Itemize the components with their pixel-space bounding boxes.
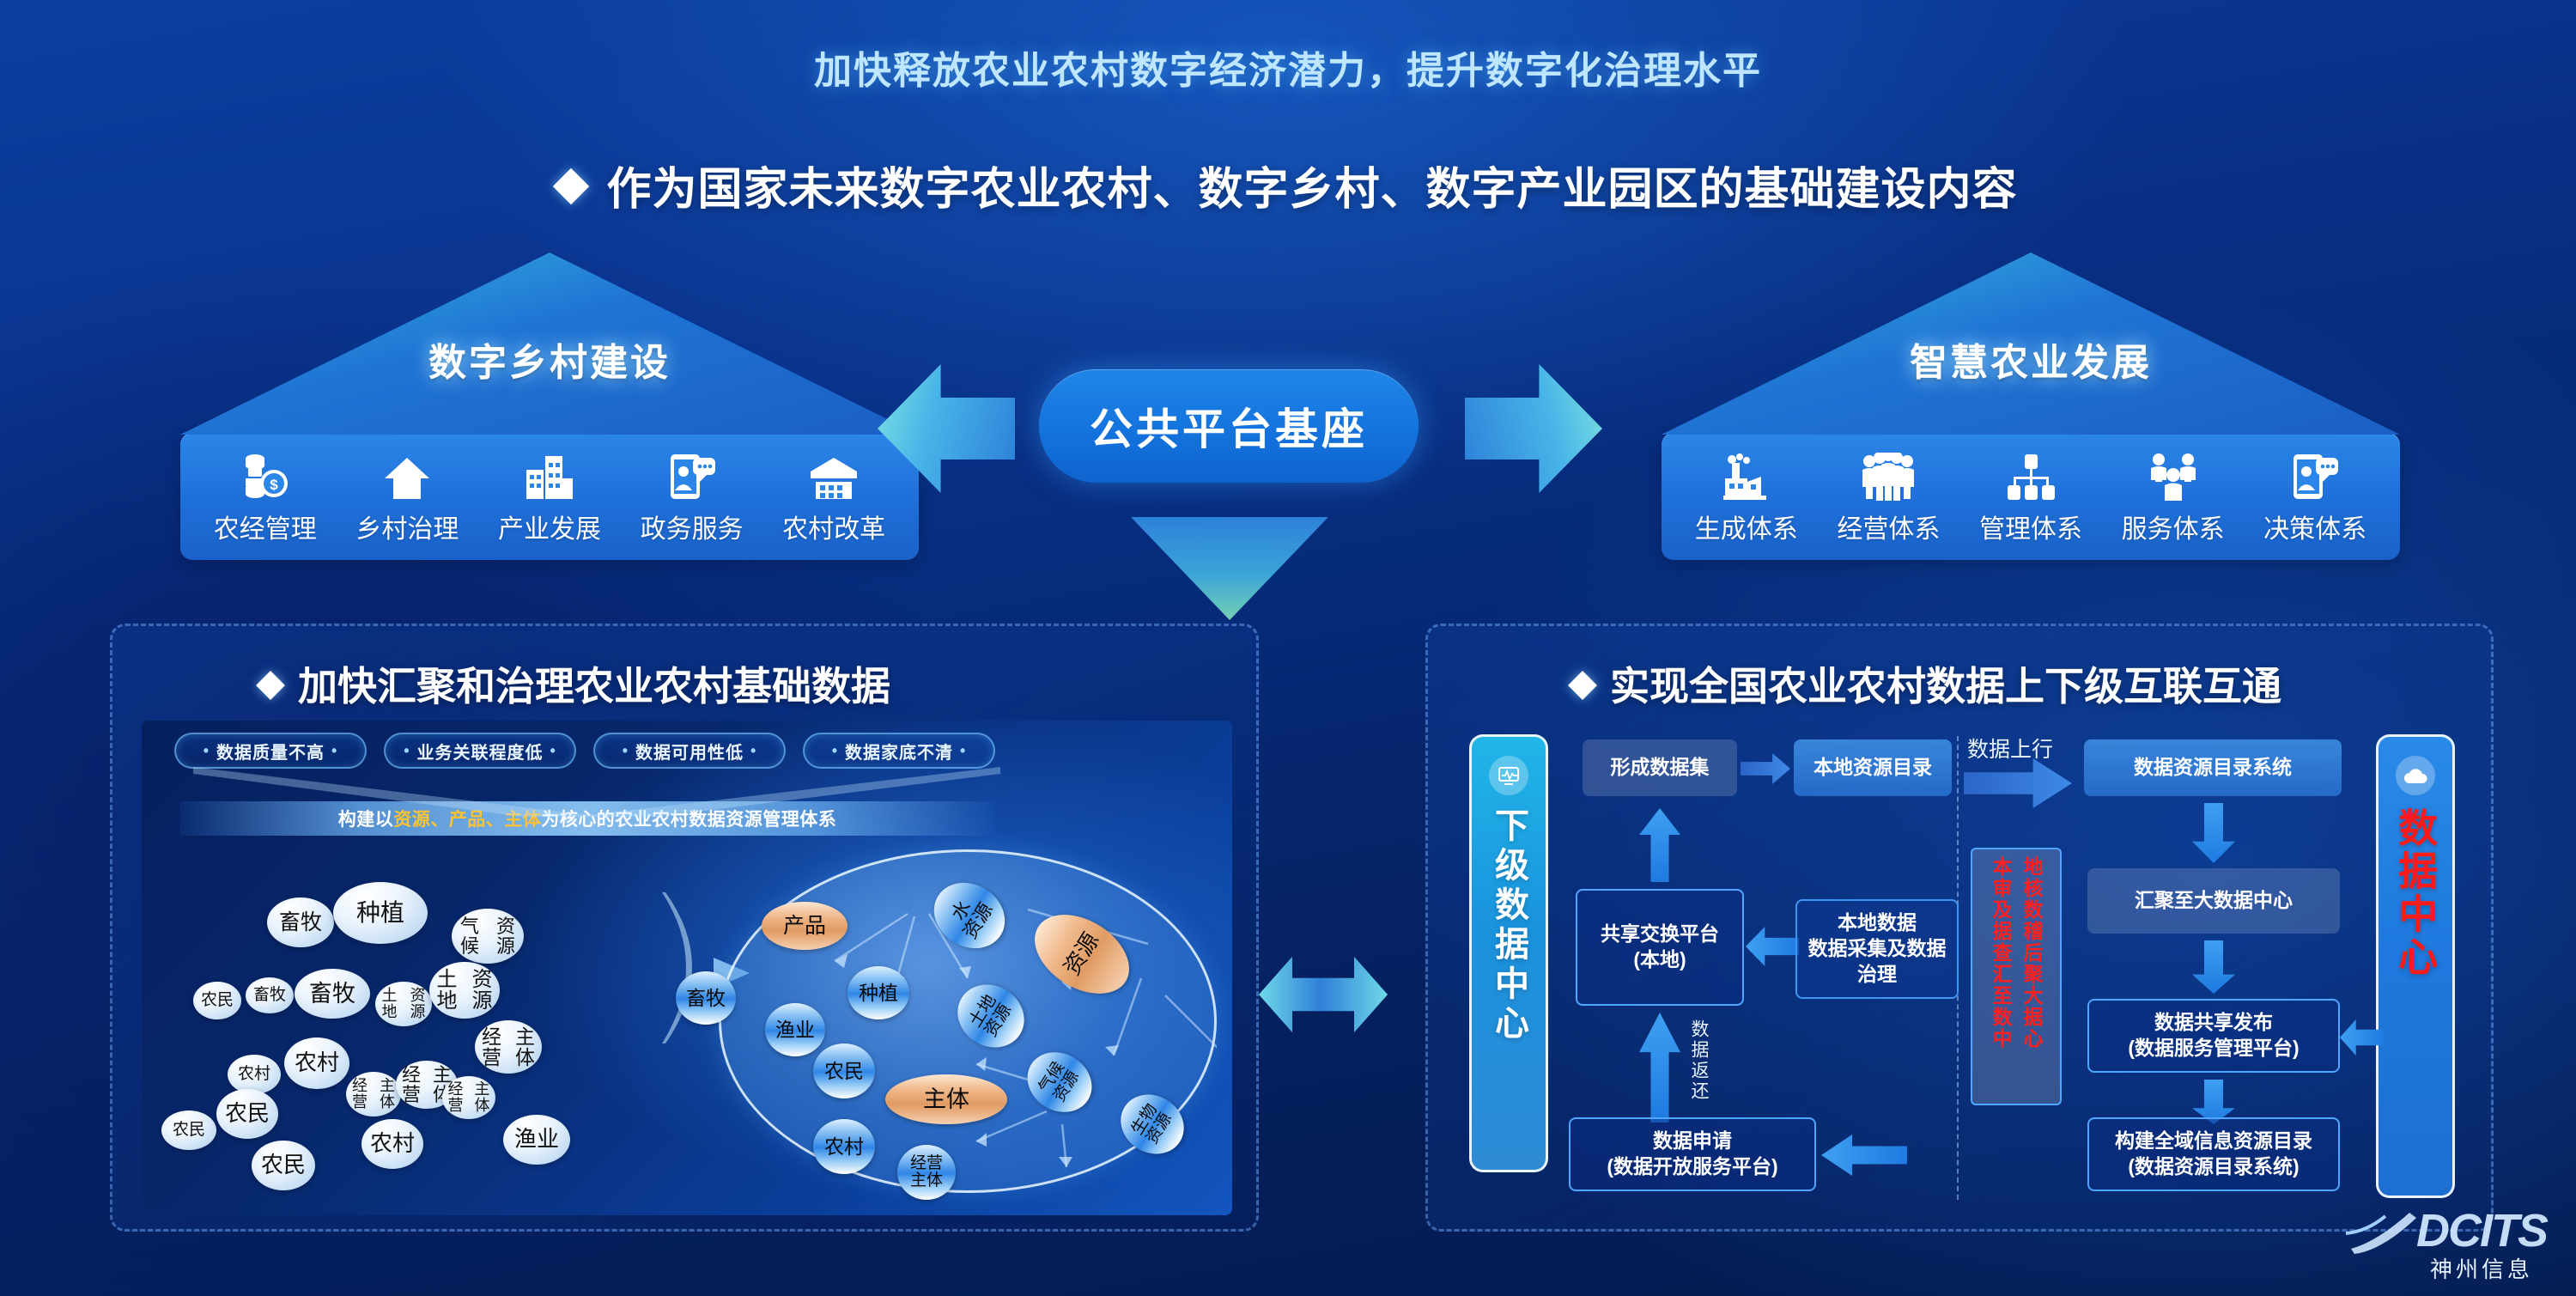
node-data-apply[interactable]: 数据申请(数据开放服务平台) (1569, 1117, 1816, 1191)
data-node: 经营主体 (897, 1145, 956, 1200)
org-chart-icon (1966, 447, 2095, 501)
people-service-icon (2109, 447, 2238, 501)
feature-shengcheng-tixi[interactable]: 生成体系 (1682, 447, 1811, 545)
platform-base-pill[interactable]: 公共平台基座 (1039, 369, 1419, 483)
data-bubble: 土地资源 (429, 962, 500, 1019)
core-node: 产品 (762, 902, 848, 950)
logo-text: DCITS (2416, 1204, 2547, 1257)
feature-label: 产业发展 (485, 508, 614, 545)
node-build-catalog[interactable]: 构建全域信息资源目录(数据资源目录系统) (2087, 1117, 2340, 1191)
data-bubble: 农村 (284, 1037, 349, 1089)
pillar-base-left: $ 农经管理 乡村治理 (180, 433, 919, 560)
node-share-platform[interactable]: 共享交换平台(本地) (1576, 889, 1744, 1006)
feature-label: 政务服务 (628, 508, 756, 545)
feature-label: 农经管理 (201, 508, 330, 545)
slide-canvas: 加快释放农业农村数字经济潜力，提升数字化治理水平 作为国家未来数字农业农村、数字… (0, 0, 2576, 1296)
right-flow-canvas: 下级数据中心 数据中心 形成数据集 本地资源目录 数据上行 数据资源目录系统 (1452, 721, 2472, 1215)
data-bubble: 农村 (228, 1055, 281, 1094)
data-bubble: 畜牧 (295, 969, 370, 1019)
data-bubble: 农民 (193, 982, 241, 1019)
data-bubble: 畜牧 (267, 897, 334, 947)
data-node: 渔业 (765, 1003, 825, 1056)
arrow-left-icon (1821, 1135, 1907, 1176)
feature-label: 服务体系 (2109, 508, 2238, 545)
cloud-icon (2396, 756, 2435, 795)
feature-label: 管理体系 (1966, 508, 2095, 545)
audit-col-right: 地核数稽后聚大据心 (2017, 856, 2046, 1097)
pillar-title-left: 数字乡村建设 (180, 332, 919, 386)
issue-pill-3: 数据家底不清 (803, 733, 995, 769)
feature-zhengwu-fuwu[interactable]: 政务服务 (628, 447, 756, 545)
data-bubble: 农民 (216, 1089, 278, 1139)
data-bubble: 经营主体 (346, 1072, 401, 1117)
feature-xiangcun-zhili[interactable]: 乡村治理 (343, 447, 471, 545)
data-bubble: 畜牧 (246, 977, 294, 1013)
data-node: 农民 (813, 1043, 875, 1098)
arrow-down-to-panels (1131, 517, 1328, 620)
bidirectional-arrow-icon (1259, 953, 1388, 1036)
data-bubble: 种植 (333, 882, 428, 944)
feature-nongjing-guanli[interactable]: $ 农经管理 (201, 447, 330, 545)
feature-label: 生成体系 (1682, 508, 1811, 545)
panel-heading-text: 实现全国农业农村数据上下级互联互通 (1610, 664, 2281, 709)
arrow-upstream-icon (1964, 758, 2072, 808)
pillar-roof-right: 智慧农业发展 (1662, 253, 2400, 435)
data-bubble: 农村 (361, 1119, 423, 1169)
funnel-decoration (142, 765, 1086, 817)
issue-pill-1: 业务关联程度低 (384, 733, 576, 769)
node-local-catalog[interactable]: 本地资源目录 (1794, 739, 1952, 796)
feature-jingying-tixi[interactable]: 经营体系 (1824, 447, 1953, 545)
coin-stack-icon: $ (201, 447, 330, 501)
logo-mark-icon (2342, 1208, 2420, 1256)
arrow-left-icon (1746, 927, 1799, 966)
diamond-bullet-icon (256, 671, 285, 700)
diamond-bullet-icon (1568, 671, 1597, 700)
pillar-base-right: 生成体系 经营体系 (1662, 433, 2400, 560)
core-node: 主体 (885, 1074, 1007, 1124)
feature-guanli-tixi[interactable]: 管理体系 (1966, 447, 2095, 545)
house-icon (343, 447, 471, 501)
feature-chanye-fazhan[interactable]: 产业发展 (485, 447, 614, 545)
data-node: 种植 (848, 966, 909, 1019)
arrow-up-return-icon (1639, 1013, 1680, 1123)
audit-col-left: 本审及据查汇至数中 (1986, 856, 2015, 1097)
panel-heading-text: 加快汇聚和治理农业农村基础数据 (298, 664, 890, 709)
buildings-icon (485, 447, 614, 501)
lower-data-center-bar[interactable]: 下级数据中心 (1469, 734, 1548, 1172)
factory-icon (1682, 447, 1811, 501)
data-bubble: 渔业 (503, 1115, 570, 1165)
page-subtitle-text: 作为国家未来数字农业农村、数字乡村、数字产业园区的基础建设内容 (606, 165, 2017, 215)
node-form-dataset[interactable]: 形成数据集 (1583, 739, 1737, 796)
issue-pill-2: 数据可用性低 (593, 733, 786, 769)
feature-label: 农村改革 (769, 508, 898, 545)
left-diagram-canvas: 数据质量不高 业务关联程度低 数据可用性低 数据家底不清 构建以资源、产品、主体… (142, 721, 1232, 1215)
node-share-publish[interactable]: 数据共享发布(数据服务管理平台) (2087, 999, 2340, 1073)
data-bubble: 农民 (161, 1110, 216, 1150)
data-bubble: 经营主体 (442, 1076, 495, 1119)
arrow-down-icon (2192, 803, 2235, 863)
pillar-smart-agriculture: 智慧农业发展 生成体系 (1662, 253, 2400, 560)
monitor-pulse-icon (1489, 756, 1528, 795)
panel-heading-right: 实现全国农业农村数据上下级互联互通 (1572, 655, 2281, 712)
issue-pill-0: 数据质量不高 (174, 733, 367, 769)
feature-label: 决策体系 (2251, 508, 2379, 545)
data-node: 农村 (813, 1119, 875, 1174)
mobile-service-icon (2251, 447, 2379, 501)
node-catalog-system[interactable]: 数据资源目录系统 (2084, 739, 2342, 796)
data-bubble: 农民 (252, 1141, 315, 1190)
node-local-data[interactable]: 本地数据数据采集及数据治理 (1795, 899, 1959, 999)
page-subtitle: 作为国家未来数字农业农村、数字乡村、数字产业园区的基础建设内容 (0, 153, 2576, 217)
data-center-label: 数据中心 (2387, 807, 2444, 979)
feature-label: 乡村治理 (343, 508, 471, 545)
panel-data-interconnect: 实现全国农业农村数据上下级互联互通 下级数据中心 (1425, 624, 2494, 1232)
arrow-right-icon (1741, 753, 1790, 784)
people-group-icon (1824, 447, 1953, 501)
data-node: 畜牧 (676, 971, 736, 1025)
pillar-title-right: 智慧农业发展 (1662, 332, 2400, 386)
data-bubble: 气候资源 (452, 909, 524, 964)
feature-label: 经营体系 (1824, 508, 1953, 545)
page-title: 加快释放农业农村数字经济潜力，提升数字化治理水平 (0, 40, 2576, 94)
note-upstream: 数据上行 (1967, 733, 2053, 764)
pillar-digital-village: 数字乡村建设 $ 农经管理 (180, 253, 919, 560)
arrow-to-left-pillar (878, 364, 1015, 493)
arrow-to-right-pillar (1465, 364, 1602, 493)
feature-fuwu-tixi[interactable]: 服务体系 (2109, 447, 2238, 545)
diamond-bullet-icon (553, 168, 589, 204)
panel-heading-left: 加快汇聚和治理农业农村基础数据 (260, 655, 890, 712)
note-audit-block: 本审及据查汇至数中 地核数稽后聚大据心 (1971, 848, 2062, 1105)
data-center-bar[interactable]: 数据中心 (2376, 734, 2455, 1198)
mobile-service-icon (628, 447, 756, 501)
company-logo: DCITS 神州信息 (2416, 1204, 2547, 1284)
data-bubble: 土地资源 (375, 982, 432, 1026)
feature-juece-tixi[interactable]: 决策体系 (2251, 447, 2379, 545)
svg-text:$: $ (270, 477, 278, 493)
note-return: 数据返还 (1686, 1019, 1711, 1102)
arrow-down-icon (2192, 940, 2235, 994)
data-bubble: 经营主体 (475, 1020, 542, 1074)
arrow-up-icon (1639, 808, 1680, 882)
lower-data-center-label: 下级数据中心 (1484, 807, 1534, 1044)
pillar-roof-left: 数字乡村建设 (180, 253, 919, 435)
node-aggregate-bigdata[interactable]: 汇聚至大数据中心 (2087, 868, 2340, 934)
panel-data-aggregation: 加快汇聚和治理农业农村基础数据 数据质量不高 业务关联程度低 数据可用性低 数据… (110, 624, 1259, 1232)
